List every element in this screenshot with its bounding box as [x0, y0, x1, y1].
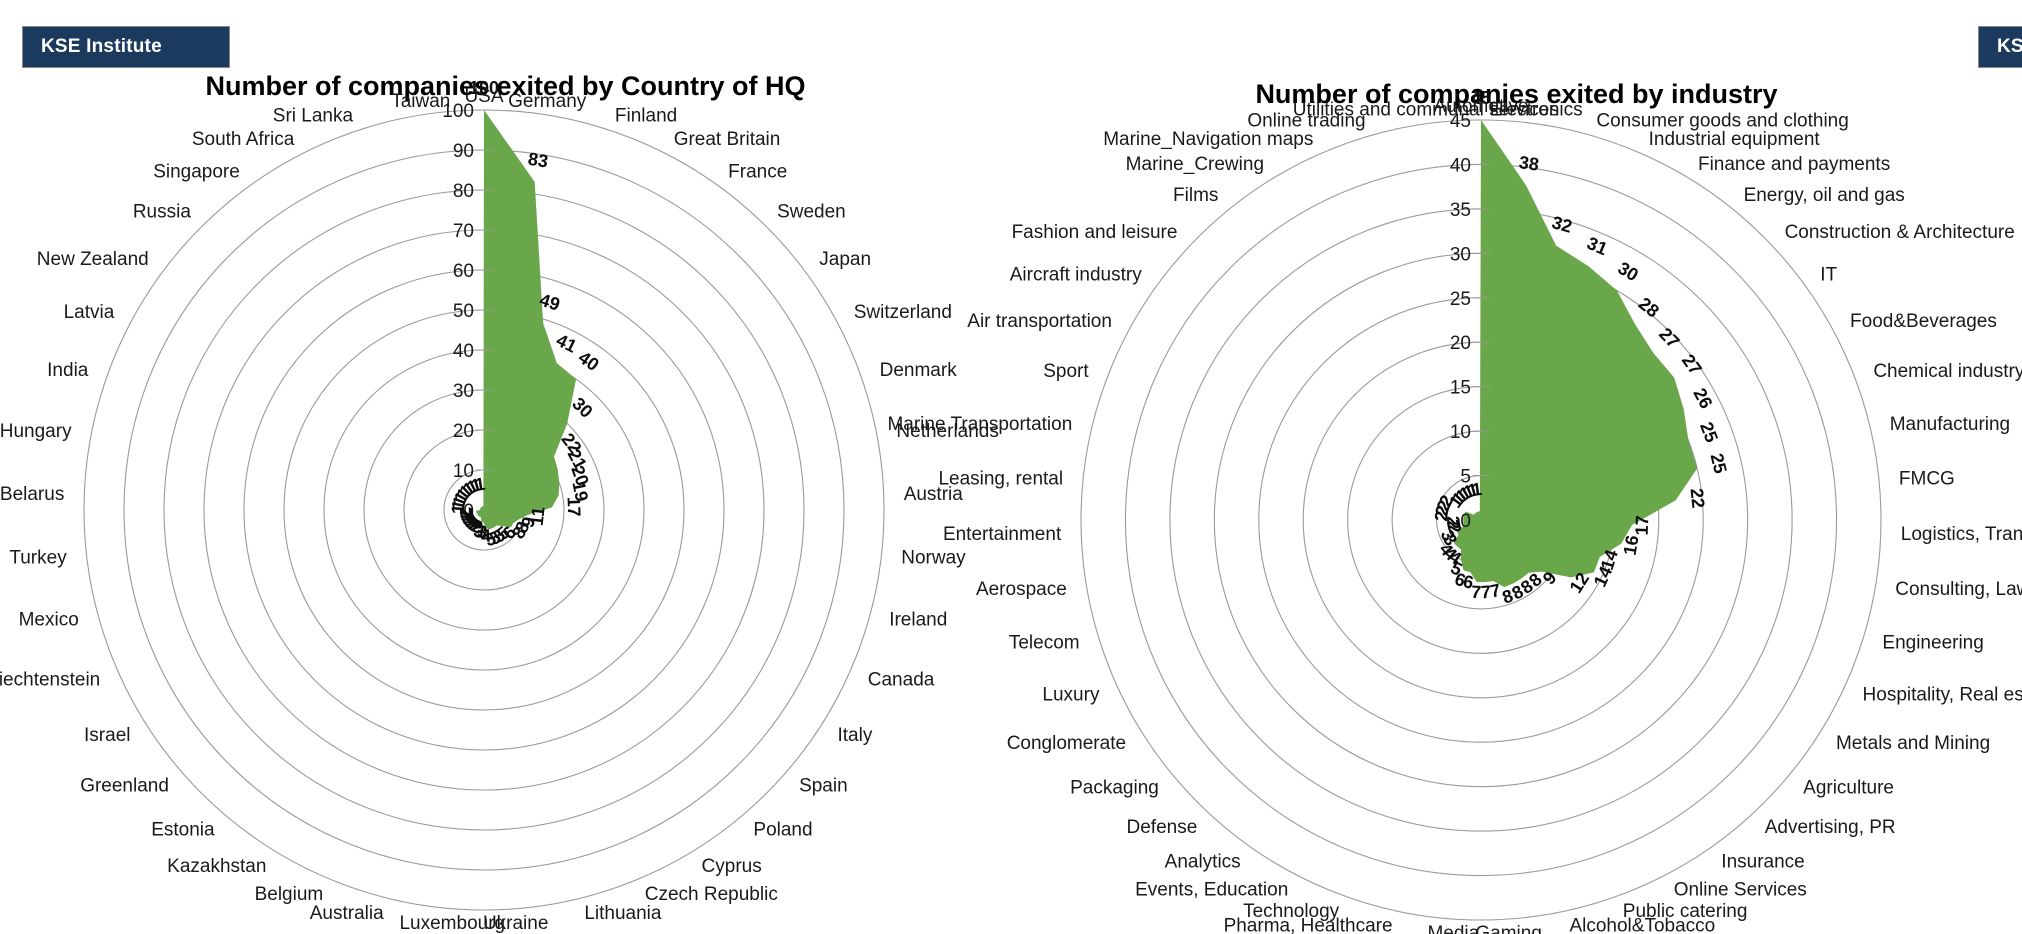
category-label: Japan: [819, 249, 871, 270]
data-value-label: 26: [1689, 385, 1716, 412]
category-label: Logistics, Transport: [1901, 524, 2022, 545]
category-label: Media: [1427, 923, 1479, 934]
category-label: Events, Education: [1135, 880, 1288, 901]
category-label: Germany: [508, 91, 587, 112]
chart-panel-country: KSE Institute Number of companies exited…: [0, 0, 1011, 934]
data-value-label: 41: [553, 330, 580, 357]
category-label: Australia: [310, 903, 384, 924]
radial-tick-label: 80: [453, 181, 474, 202]
category-label: South Africa: [192, 129, 295, 150]
category-label: Israel: [84, 725, 130, 746]
data-value-label: 28: [1635, 293, 1663, 321]
category-label: Entertainment: [943, 524, 1062, 545]
category-label: Aerospace: [976, 579, 1067, 600]
category-label: Advertising, PR: [1765, 817, 1896, 838]
data-value-label: 25: [1707, 451, 1731, 475]
category-label: Telecom: [1009, 633, 1080, 654]
data-value-label: 17: [564, 496, 585, 517]
category-label: Sri Lanka: [273, 105, 354, 126]
category-label: Belarus: [0, 484, 64, 505]
radar-chart-country: 0102030405060708090100100USA83Germany49F…: [0, 0, 1011, 934]
category-label: Switzerland: [854, 302, 952, 323]
category-label: Air transportation: [967, 311, 1112, 332]
category-label: Liechtenstein: [0, 669, 100, 690]
category-label: Czech Republic: [645, 884, 778, 905]
category-label: Engineering: [1882, 633, 1983, 654]
category-label: Sport: [1043, 361, 1089, 382]
radial-tick-label: 90: [453, 141, 474, 162]
data-value-label: 30: [1614, 258, 1641, 285]
data-value-label: 40: [575, 347, 603, 375]
category-label: IT: [1820, 264, 1837, 285]
radial-tick-label: 25: [1450, 289, 1471, 310]
category-label: France: [728, 161, 787, 182]
category-label: Great Britain: [674, 129, 781, 150]
category-label: Fashion and leisure: [1012, 222, 1178, 243]
category-label: Manufacturing: [1890, 414, 2010, 435]
category-label: Insurance: [1721, 851, 1804, 872]
category-label: Marine Transportation: [887, 414, 1072, 435]
radial-tick-label: 60: [453, 261, 474, 282]
data-value-label: 83: [527, 149, 550, 172]
radial-tick-label: 35: [1450, 200, 1471, 221]
category-label: Latvia: [64, 302, 115, 323]
data-value-label: 38: [1518, 152, 1541, 175]
category-label: Canada: [868, 669, 935, 690]
category-label: Marine_Navigation maps: [1103, 129, 1313, 150]
category-label: Online Services: [1674, 880, 1807, 901]
category-label: Singapore: [153, 161, 240, 182]
category-label: India: [47, 360, 89, 381]
category-label: FMCG: [1899, 469, 1955, 490]
dashboard-page: KSE Institute Number of companies exited…: [0, 0, 2022, 934]
radial-tick-label: 50: [453, 301, 474, 322]
category-label: Finland: [615, 105, 677, 126]
data-value-label: 7: [1480, 582, 1491, 603]
category-label: Sweden: [777, 202, 846, 223]
data-value-label: 27: [1678, 351, 1706, 379]
category-label: Industrial equipment: [1649, 129, 1821, 150]
data-value-label: 30: [568, 394, 596, 422]
category-label: Taiwan: [391, 91, 450, 112]
category-label: Conglomerate: [1007, 733, 1126, 754]
chart-panel-industry: KSE Institute Number of companies exited…: [1011, 0, 2022, 934]
category-label: Defense: [1127, 817, 1198, 838]
radial-tick-label: 15: [1450, 378, 1471, 399]
category-label: Films: [1173, 185, 1218, 206]
category-label: Ireland: [889, 610, 947, 631]
category-label: Poland: [753, 819, 812, 840]
category-label: Belgium: [255, 884, 324, 905]
category-label: Luxembourg: [399, 913, 505, 934]
category-label: Mexico: [19, 610, 79, 631]
category-label: Norway: [901, 547, 966, 568]
category-label: Spain: [799, 775, 848, 796]
category-label: Lithuania: [584, 903, 662, 924]
category-label: Food&Beverages: [1850, 311, 1997, 332]
radial-tick-label: 20: [453, 421, 474, 442]
category-label: Gaming: [1475, 923, 1542, 934]
category-label: Russia: [133, 202, 192, 223]
radial-tick-label: 40: [453, 341, 474, 362]
category-label: Aircraft industry: [1010, 264, 1142, 285]
data-value-label: 32: [1550, 212, 1575, 237]
category-label: Consulting, Law: [1895, 579, 2022, 600]
category-label: Analytics: [1165, 851, 1241, 872]
data-value-label: 27: [1655, 324, 1683, 352]
category-label: Finance and payments: [1698, 154, 1890, 175]
category-label: Greenland: [80, 775, 169, 796]
radial-tick-label: 20: [1450, 333, 1471, 354]
category-label: Marine_Crewing: [1126, 154, 1264, 175]
category-label: Kazakhstan: [167, 856, 266, 877]
category-label: Packaging: [1070, 777, 1159, 798]
category-label: Leasing, rental: [938, 469, 1063, 490]
data-value-label: 16: [1620, 534, 1643, 557]
category-label: USA: [464, 86, 503, 107]
radar-chart-industry: 05101520253035404545Automotive38Electron…: [1011, 0, 2022, 934]
category-label: Estonia: [151, 819, 215, 840]
data-value-label: 22: [1687, 487, 1709, 509]
data-value-label: 17: [1632, 515, 1653, 536]
data-value-label: 31: [1584, 233, 1610, 259]
radial-tick-label: 10: [1450, 422, 1471, 443]
category-label: Chemical industry: [1873, 361, 2022, 382]
category-label: Technology: [1243, 901, 1340, 922]
radial-tick-label: 30: [1450, 244, 1471, 265]
category-label: Hungary: [0, 421, 72, 442]
data-value-label: 25: [1696, 419, 1722, 445]
radar-area: [476, 110, 576, 529]
category-label: Cyprus: [702, 856, 762, 877]
category-label: New Zealand: [37, 249, 149, 270]
category-label: Italy: [837, 725, 872, 746]
category-label: Luxury: [1042, 684, 1100, 705]
category-label: Alcohol&Tobacco: [1569, 916, 1715, 934]
category-label: Agriculture: [1803, 777, 1894, 798]
category-label: Turkey: [9, 547, 67, 568]
category-label: Construction & Architecture: [1785, 222, 2015, 243]
category-label: Hospitality, Real estate: [1863, 684, 2022, 705]
radial-tick-label: 70: [453, 221, 474, 242]
category-label: Energy, oil and gas: [1744, 185, 1905, 206]
category-label: Utilities and communal services: [1293, 100, 1559, 121]
category-label: Denmark: [880, 360, 958, 381]
radar-area: [1454, 120, 1697, 587]
radial-tick-label: 40: [1450, 155, 1471, 176]
category-label: Metals and Mining: [1836, 733, 1990, 754]
radial-tick-label: 30: [453, 381, 474, 402]
